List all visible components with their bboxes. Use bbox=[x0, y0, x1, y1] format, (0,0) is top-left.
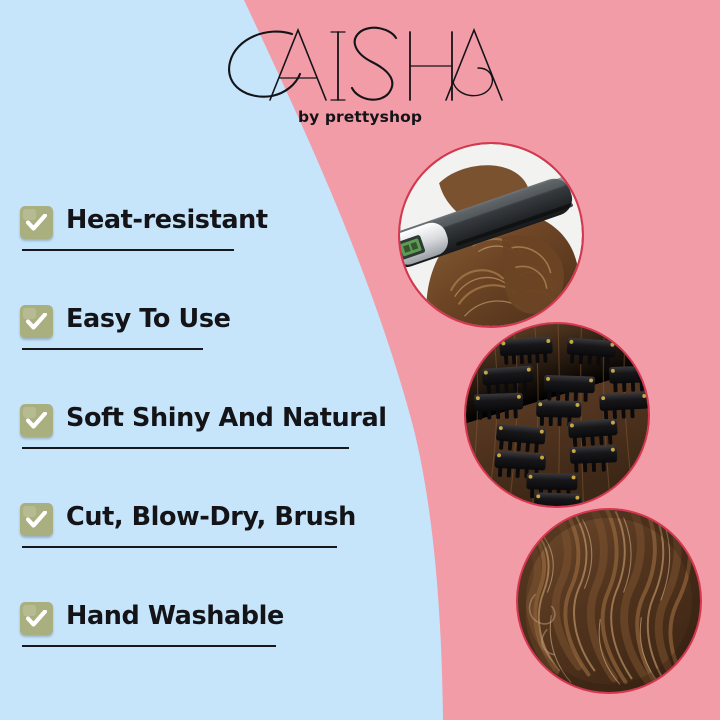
feature-label: Soft Shiny And Natural bbox=[66, 406, 387, 434]
feature-underline bbox=[22, 645, 276, 647]
feature-item-soft-shiny-and-natural: Soft Shiny And Natural bbox=[20, 394, 440, 446]
checkbox-checked-icon bbox=[20, 602, 53, 635]
feature-label: Heat-resistant bbox=[66, 208, 268, 236]
feature-item-cut-blow-dry-brush: Cut, Blow-Dry, Brush bbox=[20, 493, 440, 545]
feature-underline bbox=[22, 546, 337, 548]
feature-underline bbox=[22, 348, 203, 350]
feature-label: Cut, Blow-Dry, Brush bbox=[66, 505, 356, 533]
flat-iron-on-hair-photo bbox=[398, 142, 584, 328]
feature-underline bbox=[22, 447, 349, 449]
checkbox-checked-icon bbox=[20, 305, 53, 338]
brand-wordmark bbox=[0, 16, 720, 102]
brand-tagline: by prettyshop bbox=[0, 108, 720, 126]
feature-item-easy-to-use: Easy To Use bbox=[20, 295, 440, 347]
feature-item-hand-washable: Hand Washable bbox=[20, 592, 440, 644]
brand-logo: by prettyshop bbox=[0, 16, 720, 126]
product-feature-graphic: by prettyshop Heat-resistant Easy To Use bbox=[0, 0, 720, 720]
feature-underline bbox=[22, 249, 234, 251]
feature-label: Easy To Use bbox=[66, 307, 231, 335]
feature-list: Heat-resistant Easy To Use Soft Shiny An… bbox=[20, 196, 440, 644]
checkbox-checked-icon bbox=[20, 404, 53, 437]
feature-label: Hand Washable bbox=[66, 604, 284, 632]
hair-extension-clips-photo bbox=[464, 322, 650, 508]
checkbox-checked-icon bbox=[20, 503, 53, 536]
wavy-brown-hair-photo bbox=[516, 508, 702, 694]
feature-item-heat-resistant: Heat-resistant bbox=[20, 196, 440, 248]
checkbox-checked-icon bbox=[20, 206, 53, 239]
